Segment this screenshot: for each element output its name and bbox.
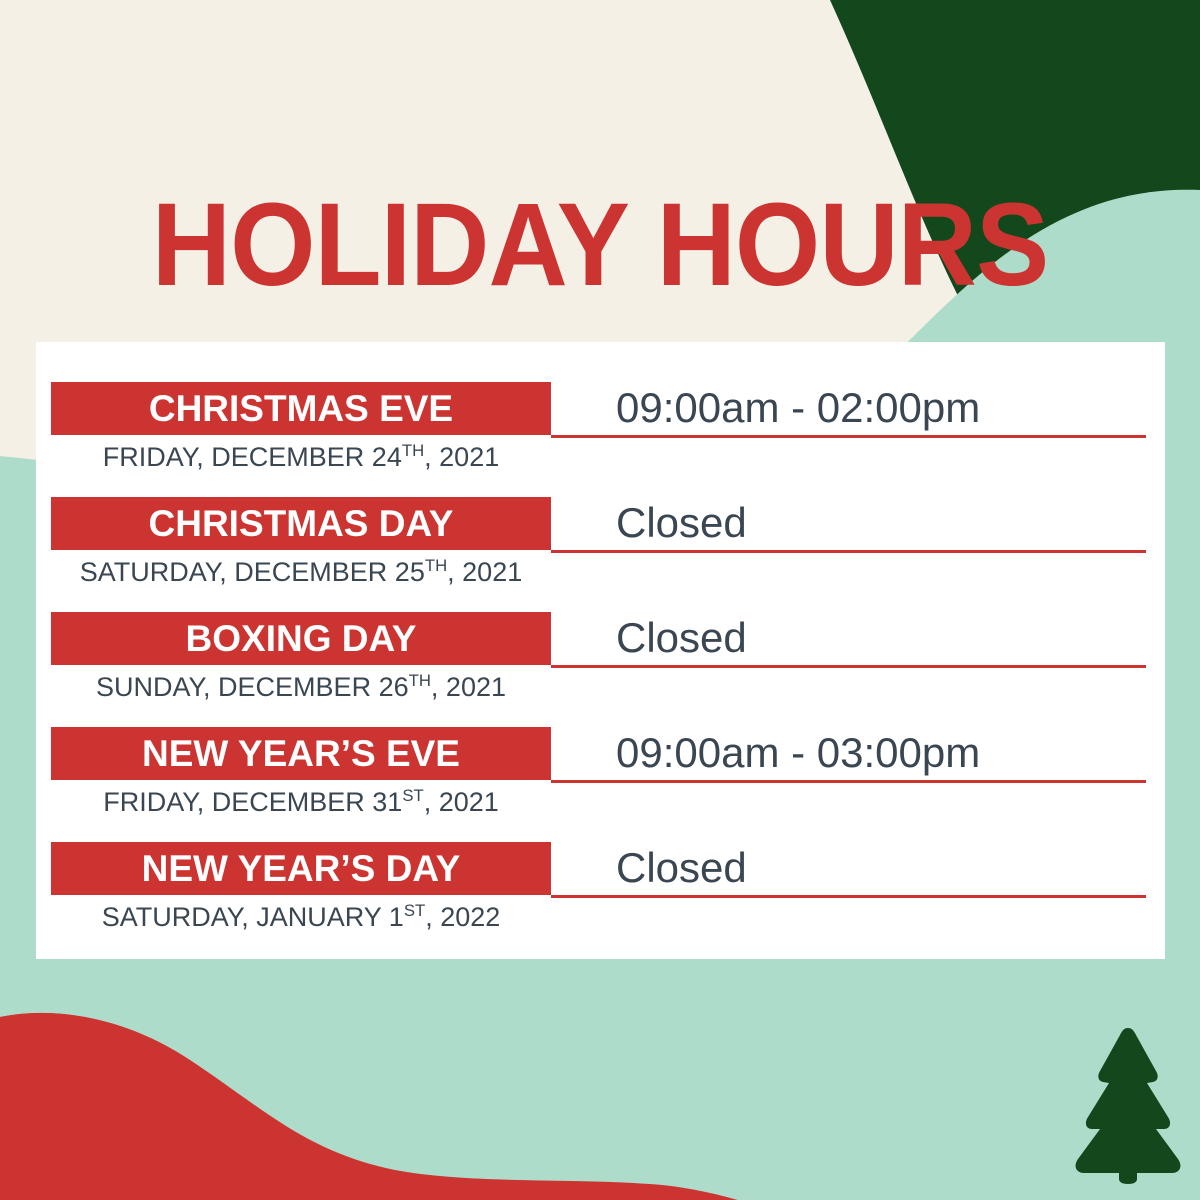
holiday-label-plate: NEW YEAR’S DAY xyxy=(51,842,551,895)
hours-row: NEW YEAR’S EVE FRIDAY, DECEMBER 31ST, 20… xyxy=(36,687,1165,797)
hours-row: BOXING DAY SUNDAY, DECEMBER 26TH, 2021 C… xyxy=(36,572,1165,682)
holiday-label-plate: CHRISTMAS EVE xyxy=(51,382,551,435)
holiday-label-plate: BOXING DAY xyxy=(51,612,551,665)
row-divider xyxy=(551,665,1146,668)
holiday-hours-value: Closed xyxy=(616,840,1146,896)
holiday-date-suffix: , 2022 xyxy=(425,902,500,932)
row-divider xyxy=(551,435,1146,438)
hours-row: NEW YEAR’S DAY SATURDAY, JANUARY 1ST, 20… xyxy=(36,802,1165,912)
holiday-hours-value: 09:00am - 03:00pm xyxy=(616,725,1146,781)
holiday-label: BOXING DAY xyxy=(186,620,417,657)
holiday-label: CHRISTMAS DAY xyxy=(149,505,454,542)
holiday-label: NEW YEAR’S DAY xyxy=(142,850,461,887)
row-divider xyxy=(551,550,1146,553)
holiday-date: SATURDAY, JANUARY 1ST, 2022 xyxy=(51,902,551,932)
holiday-label-plate: NEW YEAR’S EVE xyxy=(51,727,551,780)
holiday-label: NEW YEAR’S EVE xyxy=(142,735,460,772)
hours-row: CHRISTMAS DAY SATURDAY, DECEMBER 25TH, 2… xyxy=(36,457,1165,567)
holiday-hours-value: Closed xyxy=(616,610,1146,666)
holiday-hours-poster: HOLIDAY HOURS CHRISTMAS EVE FRIDAY, DECE… xyxy=(0,0,1200,1200)
christmas-tree-shape xyxy=(1076,1028,1181,1184)
holiday-label: CHRISTMAS EVE xyxy=(149,390,453,427)
hours-row: CHRISTMAS EVE FRIDAY, DECEMBER 24TH, 202… xyxy=(36,342,1165,452)
holiday-hours-value: Closed xyxy=(616,495,1146,551)
page-title: HOLIDAY HOURS xyxy=(42,186,1158,304)
holiday-date-prefix: SATURDAY, JANUARY 1 xyxy=(102,902,404,932)
holiday-date-ordinal: ST xyxy=(404,901,425,920)
hours-card: CHRISTMAS EVE FRIDAY, DECEMBER 24TH, 202… xyxy=(36,342,1165,959)
holiday-label-plate: CHRISTMAS DAY xyxy=(51,497,551,550)
row-divider xyxy=(551,780,1146,783)
holiday-hours-value: 09:00am - 02:00pm xyxy=(616,380,1146,436)
row-divider xyxy=(551,895,1146,898)
christmas-tree-icon xyxy=(1068,1024,1188,1184)
